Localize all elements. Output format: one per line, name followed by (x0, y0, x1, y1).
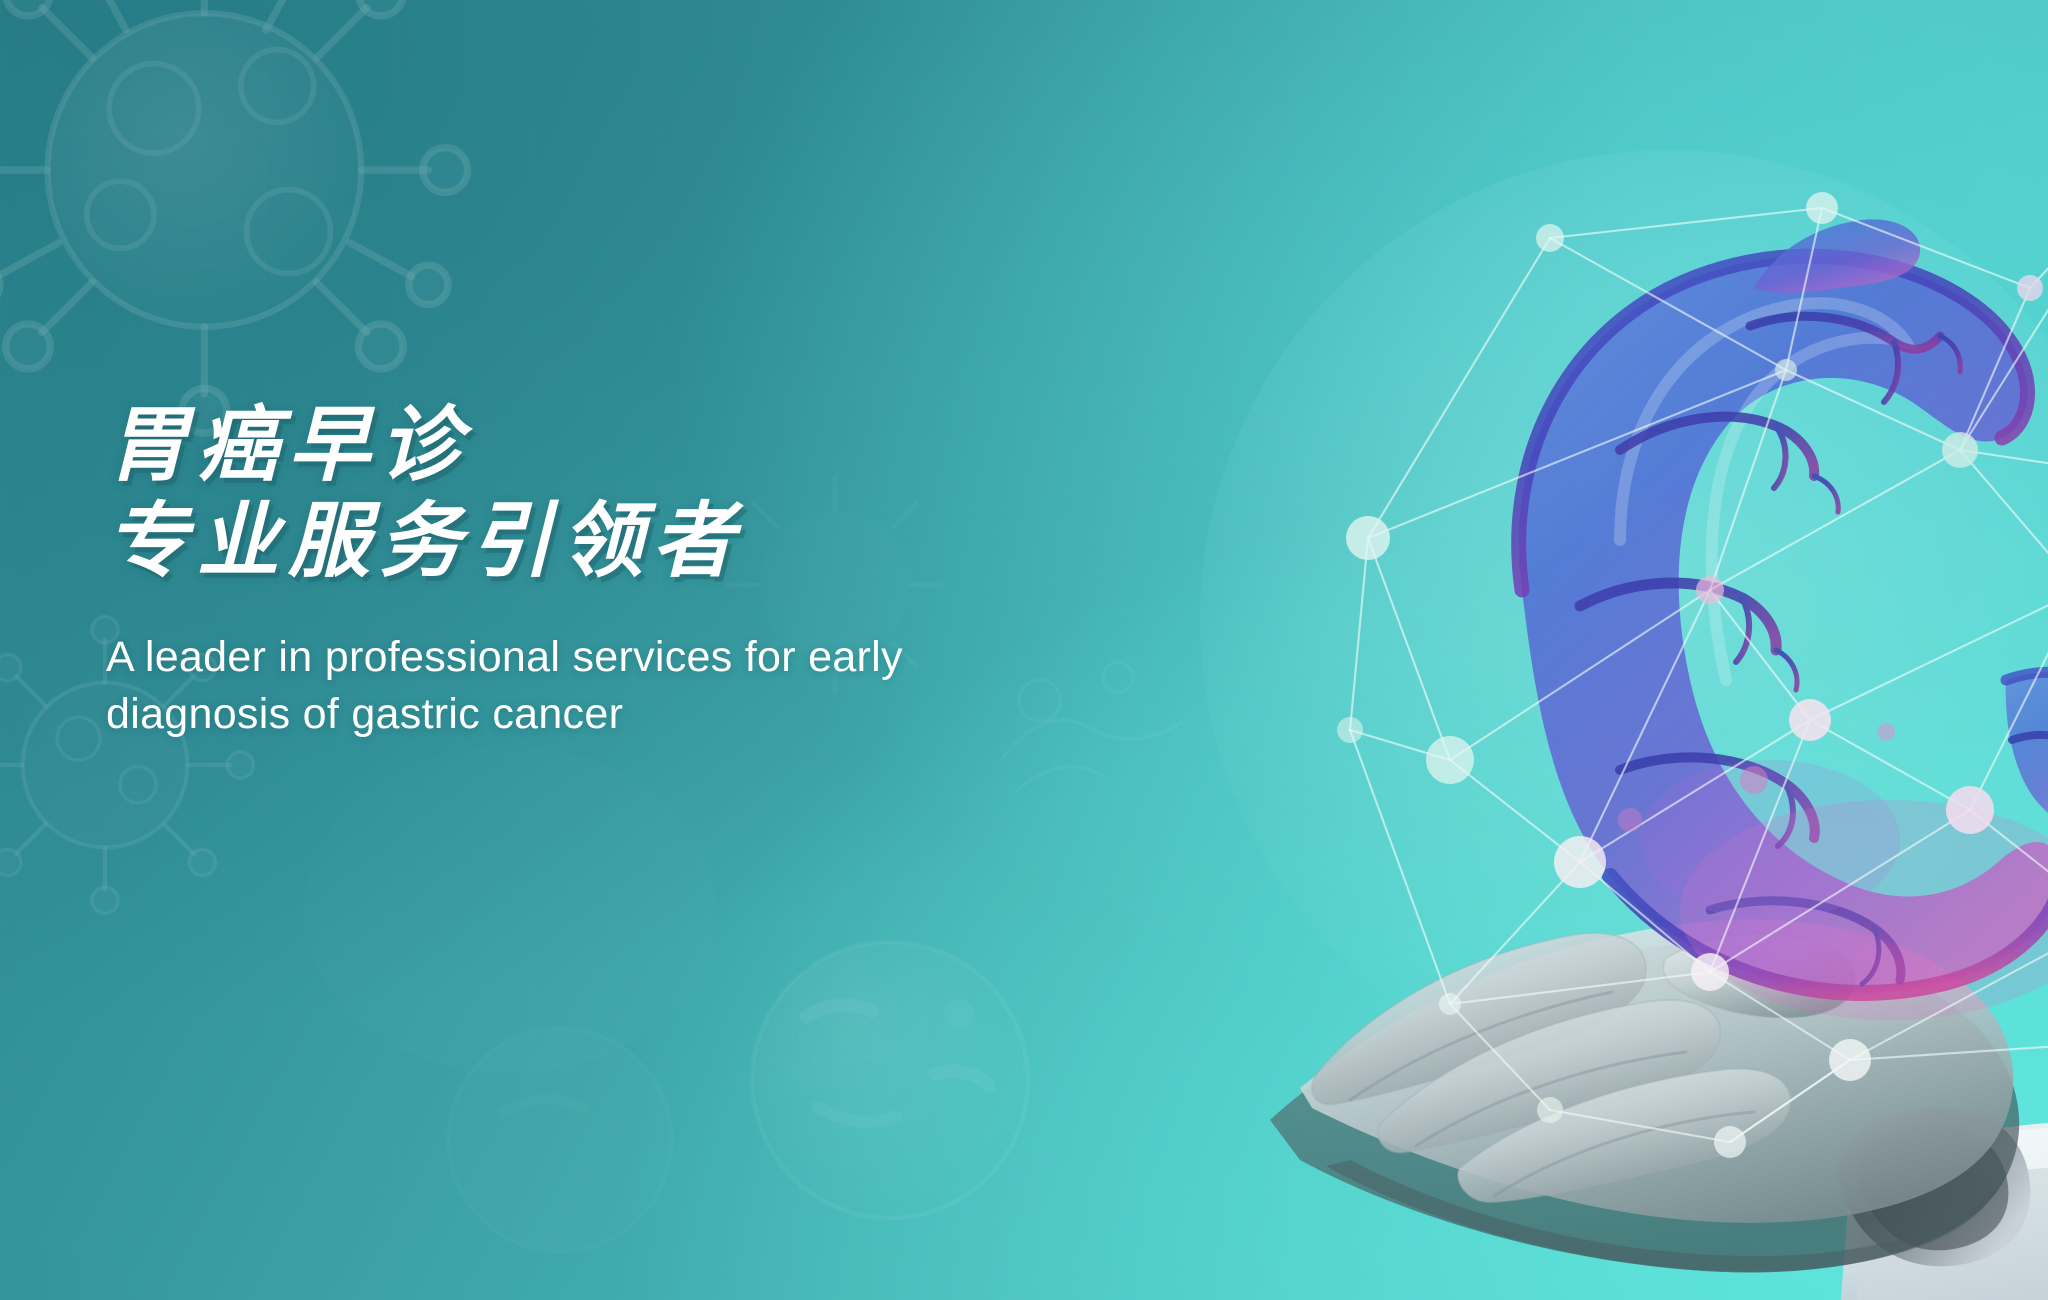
subtitle-en-block: A leader in professional services for ea… (106, 629, 1086, 743)
lab-coat-sleeve (1836, 1108, 2048, 1300)
open-hand (1270, 920, 2019, 1273)
headline-block: 胃癌早诊 专业服务引领者 A leader in professional se… (106, 404, 1086, 743)
soft-glow-blob (300, 700, 720, 1040)
network-mesh (1337, 161, 2048, 1158)
subtitle-en-line-1: A leader in professional services for ea… (106, 629, 1086, 686)
stomach-hologram-illustration (1150, 120, 2048, 1300)
cell-blob-secondary-icon (430, 1010, 690, 1260)
cell-blob-icon (740, 930, 1040, 1220)
banner-hero: 胃癌早诊 专业服务引领者 A leader in professional se… (0, 0, 2048, 1300)
headline-cn-line-1: 胃癌早诊 (106, 404, 1086, 488)
stomach-organ (1519, 219, 2048, 1020)
headline-cn-line-2: 专业服务引领者 (106, 500, 1086, 584)
virus-silhouette-top-left-icon (0, 0, 490, 410)
subtitle-en-line-2: diagnosis of gastric cancer (106, 686, 1086, 743)
